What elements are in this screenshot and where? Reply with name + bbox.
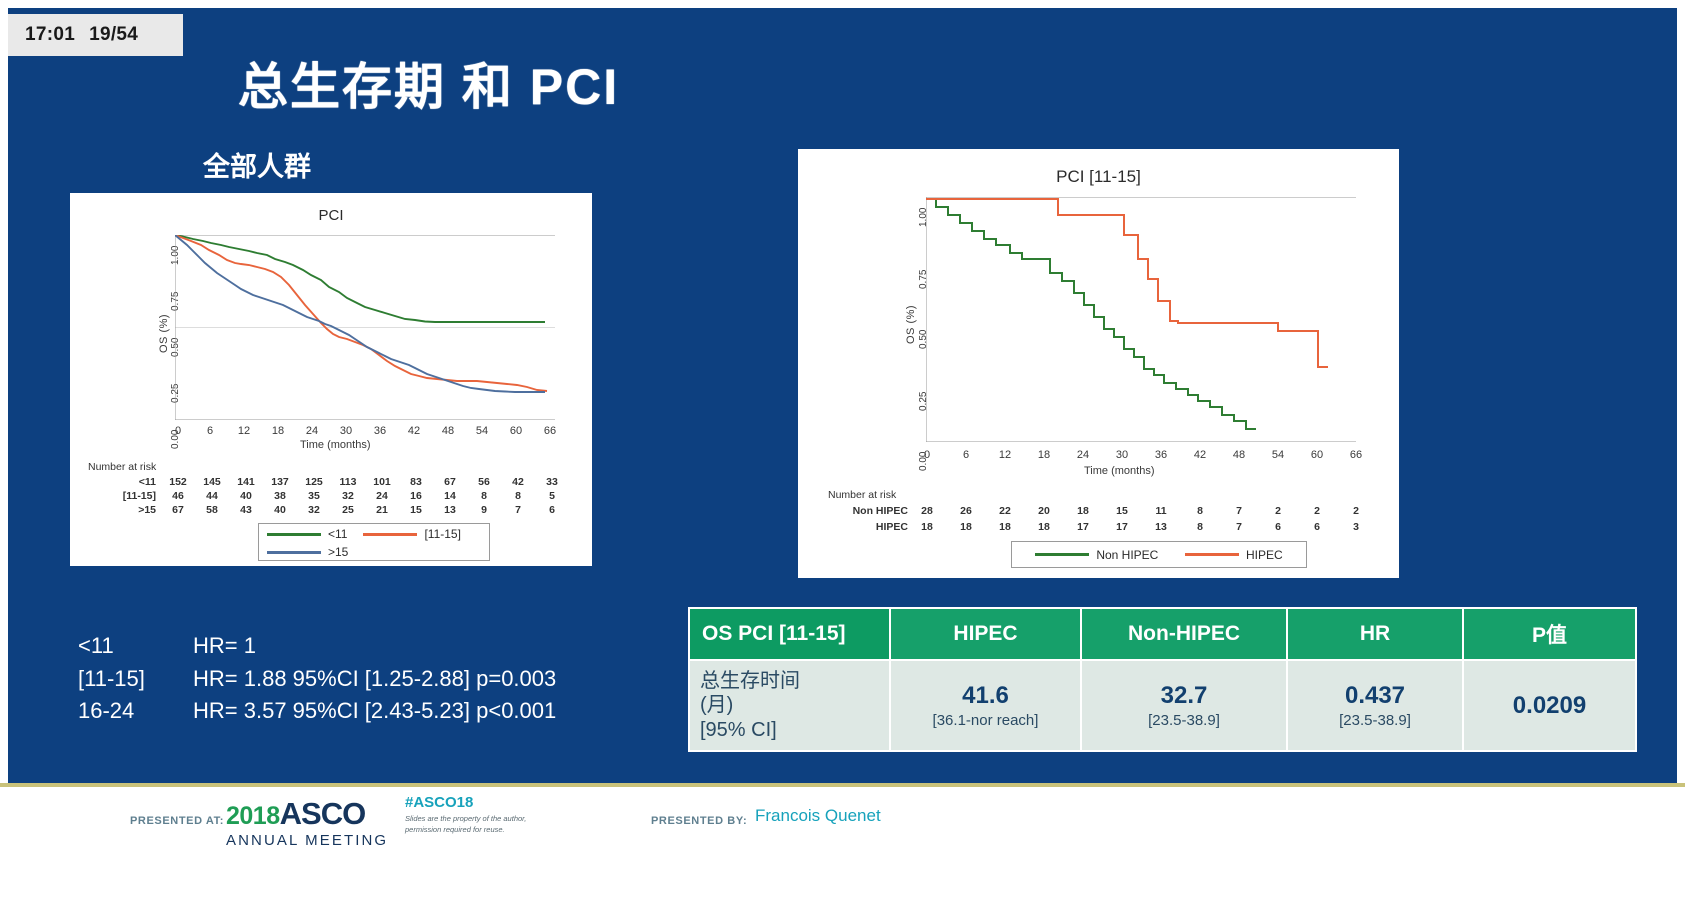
right-risk-0-6: 11 [1148,505,1174,517]
left-risk-1-0: 46 [165,490,191,502]
left-xtick-36: 36 [369,425,391,437]
hr-note-group-0: <11 [78,630,193,663]
left-xtick-48: 48 [437,425,459,437]
left-risk-0-7: 83 [403,476,429,488]
results-non-hipec-value: 32.7 [1161,682,1208,709]
hr-note-row: 16-24 HR= 3.57 95%CI [2.43-5.23] p<0.001 [78,695,556,728]
right-risk-1-2: 18 [992,521,1018,533]
left-xtick-60: 60 [505,425,527,437]
left-risk-1-9: 8 [471,490,497,502]
results-hipec-ci: [36.1-nor reach] [901,712,1070,729]
left-risk-2-9: 9 [471,504,497,516]
left-risk-0-11: 33 [539,476,565,488]
right-risk-0-5: 15 [1109,505,1135,517]
results-hr-value: 0.437 [1345,682,1405,709]
right-plot-area [926,197,1356,442]
left-risk-1-4: 35 [301,490,327,502]
left-risk-2-2: 43 [233,504,259,516]
results-label-line3: [95% CI] [700,719,777,741]
legend-label-11-15: [11-15] [424,527,460,541]
right-risk-0-7: 8 [1187,505,1213,517]
right-risk-1-11: 3 [1343,521,1369,533]
left-xtick-12: 12 [233,425,255,437]
left-x-axis-label: Time (months) [300,439,371,451]
results-th-pvalue: P值 [1463,608,1636,660]
right-risk-1-3: 18 [1031,521,1057,533]
right-risk-0-10: 2 [1304,505,1330,517]
left-risk-2-4: 32 [301,504,327,516]
left-xtick-42: 42 [403,425,425,437]
results-cell-hipec: 41.6 [36.1-nor reach] [890,660,1081,751]
right-xtick-30: 30 [1111,449,1133,461]
left-y-axis-label: OS (%) [158,314,170,353]
legend-swatch-hipec-icon [1185,553,1239,556]
right-xtick-24: 24 [1072,449,1094,461]
hr-notes-block: <11 HR= 1 [11-15] HR= 1.88 95%CI [1.25-2… [78,630,556,728]
footer-accent-rule [0,783,1685,787]
left-risk-row-label-1: [11-15] [78,490,156,502]
left-chart-card: PCI OS (%) 1.00 0.75 0.50 0.25 0.00 [70,193,592,566]
slide-root: 17:01 19/54 总生存期 和 PCI 全部人群 PCI OS (%) 1… [0,0,1685,904]
left-risk-0-6: 101 [369,476,395,488]
left-risk-1-6: 24 [369,490,395,502]
left-risk-1-8: 14 [437,490,463,502]
right-risk-0-3: 20 [1031,505,1057,517]
left-risk-0-9: 56 [471,476,497,488]
left-panel-subtitle: 全部人群 [203,145,311,184]
left-xtick-0: 0 [167,425,189,437]
right-risk-1-9: 6 [1265,521,1291,533]
right-risk-1-0: 18 [914,521,940,533]
results-non-hipec-ci: [23.5-38.9] [1092,712,1276,729]
right-chart-card: PCI [11-15] OS (%) 1.00 0.75 0.50 0.25 0… [798,149,1399,578]
event-hashtag: #ASCO18 [405,794,473,811]
legend-swatch-11-15-icon [363,533,417,536]
left-risk-2-0: 67 [165,504,191,516]
legend-swatch-lt11-icon [267,533,321,536]
left-risk-0-5: 113 [335,476,361,488]
table-row: 总生存时间 (月) [95% CI] 41.6 [36.1-nor reach]… [689,660,1636,751]
left-risk-2-8: 13 [437,504,463,516]
left-risk-0-8: 67 [437,476,463,488]
right-risk-1-10: 6 [1304,521,1330,533]
slide-edge-left [0,0,8,904]
left-risk-2-11: 6 [539,504,565,516]
legend-label-hipec: HIPEC [1246,548,1283,562]
results-th-hipec: HIPEC [890,608,1081,660]
right-xtick-66: 66 [1345,449,1367,461]
left-risk-0-1: 145 [199,476,225,488]
right-risk-0-0: 28 [914,505,940,517]
results-cell-hr: 0.437 [23.5-38.9] [1287,660,1463,751]
presented-at-label: PRESENTED AT: [130,815,224,827]
legend-label-non-hipec: Non HIPEC [1096,548,1158,562]
right-xtick-42: 42 [1189,449,1211,461]
left-risk-1-7: 16 [403,490,429,502]
right-risk-0-8: 7 [1226,505,1252,517]
results-cell-label: 总生存时间 (月) [95% CI] [689,660,890,751]
right-risk-1-1: 18 [953,521,979,533]
results-hipec-value: 41.6 [962,682,1009,709]
presented-by-label: PRESENTED BY: [651,815,747,827]
asco-logo-meeting: ANNUAL MEETING [226,832,388,849]
results-th-non-hipec: Non-HIPEC [1081,608,1287,660]
left-risk-1-3: 38 [267,490,293,502]
right-chart-title: PCI [11-15] [798,167,1399,187]
hr-note-group-1: [11-15] [78,663,193,696]
right-risk-1-6: 13 [1148,521,1174,533]
right-risk-1-7: 8 [1187,521,1213,533]
left-chart-title: PCI [70,207,592,224]
page-title: 总生存期 和 PCI [238,47,619,119]
asco-logo-name: ASCO [280,796,366,831]
right-risk-0-4: 18 [1070,505,1096,517]
left-risk-2-3: 40 [267,504,293,516]
right-xtick-6: 6 [955,449,977,461]
results-table: OS PCI [11-15] HIPEC Non-HIPEC HR P值 总生存… [688,607,1637,752]
right-risk-heading: Number at risk [828,489,896,501]
slide-edge-right [1677,0,1685,904]
right-xtick-60: 60 [1306,449,1328,461]
right-xtick-48: 48 [1228,449,1250,461]
left-xtick-30: 30 [335,425,357,437]
right-risk-0-9: 2 [1265,505,1291,517]
right-x-axis-label: Time (months) [1084,465,1155,477]
left-xtick-24: 24 [301,425,323,437]
playback-time-chip: 17:01 19/54 [8,14,183,56]
right-xtick-12: 12 [994,449,1016,461]
slide-edge-top [0,0,1685,8]
disclaimer-line2: permission required for reuse. [405,825,505,834]
left-risk-row-label-0: <11 [78,476,156,488]
legend-swatch-non-hipec-icon [1035,553,1089,556]
left-risk-0-4: 125 [301,476,327,488]
hr-note-text-2: HR= 3.57 95%CI [2.43-5.23] p<0.001 [193,695,556,728]
hr-note-group-2: 16-24 [78,695,193,728]
legend-item-non-hipec: Non HIPEC [1035,548,1158,562]
left-xtick-66: 66 [539,425,561,437]
asco-logo-year: 2018 [226,802,280,830]
presenter-name: Francois Quenet [755,806,881,826]
left-risk-1-11: 5 [539,490,565,502]
right-risk-row-label-1: HIPEC [816,521,908,533]
left-risk-1-5: 32 [335,490,361,502]
right-risk-1-8: 7 [1226,521,1252,533]
right-xtick-36: 36 [1150,449,1172,461]
right-risk-row-label-0: Non HIPEC [816,505,908,517]
results-cell-pvalue: 0.0209 [1463,660,1636,751]
left-plot-area [175,235,555,420]
asco-logo: 2018ASCO ANNUAL MEETING [226,796,388,849]
legend-label-lt11: <11 [328,527,347,541]
left-risk-1-2: 40 [233,490,259,502]
right-xtick-18: 18 [1033,449,1055,461]
right-risk-1-5: 17 [1109,521,1135,533]
left-risk-0-3: 137 [267,476,293,488]
left-risk-0-10: 42 [505,476,531,488]
left-xtick-54: 54 [471,425,493,437]
right-chart-legend: Non HIPEC HIPEC [1011,541,1307,568]
left-risk-2-7: 15 [403,504,429,516]
left-xtick-6: 6 [199,425,221,437]
left-risk-0-2: 141 [233,476,259,488]
hr-note-row: [11-15] HR= 1.88 95%CI [1.25-2.88] p=0.0… [78,663,556,696]
left-risk-2-5: 25 [335,504,361,516]
legend-item-lt11: <11 [267,527,347,541]
results-th-label: OS PCI [11-15] [689,608,890,660]
right-risk-0-11: 2 [1343,505,1369,517]
slide-counter: 19/54 [89,24,138,46]
right-risk-0-2: 22 [992,505,1018,517]
results-hr-ci: [23.5-38.9] [1298,712,1452,729]
results-label-line1: 总生存时间 [700,670,800,692]
left-xtick-18: 18 [267,425,289,437]
results-cell-non-hipec: 32.7 [23.5-38.9] [1081,660,1287,751]
hr-note-text-1: HR= 1.88 95%CI [1.25-2.88] p=0.003 [193,663,556,696]
hr-note-text-0: HR= 1 [193,630,256,663]
right-risk-0-1: 26 [953,505,979,517]
disclaimer-line1: Slides are the property of the author, [405,814,526,823]
left-risk-heading: Number at risk [88,461,156,473]
right-y-axis-label: OS (%) [905,305,917,344]
legend-item-11-15: [11-15] [363,527,460,541]
left-risk-2-10: 7 [505,504,531,516]
results-th-hr: HR [1287,608,1463,660]
results-label-line2: (月) [700,694,733,716]
left-risk-1-1: 44 [199,490,225,502]
legend-item-hipec: HIPEC [1185,548,1283,562]
legend-swatch-gt15-icon [267,551,321,554]
left-risk-1-10: 8 [505,490,531,502]
left-risk-0-0: 152 [165,476,191,488]
playback-time: 17:01 [25,24,75,46]
results-table-header-row: OS PCI [11-15] HIPEC Non-HIPEC HR P值 [689,608,1636,660]
legend-item-gt15: >15 [267,545,348,559]
hr-note-row: <11 HR= 1 [78,630,556,663]
left-risk-2-1: 58 [199,504,225,516]
right-xtick-54: 54 [1267,449,1289,461]
left-risk-row-label-2: >15 [78,504,156,516]
left-chart-legend: <11 [11-15] >15 [258,523,490,561]
legend-label-gt15: >15 [328,545,348,559]
right-xtick-0: 0 [916,449,938,461]
footer-disclaimer: Slides are the property of the author, p… [405,814,526,836]
right-risk-1-4: 17 [1070,521,1096,533]
left-risk-2-6: 21 [369,504,395,516]
